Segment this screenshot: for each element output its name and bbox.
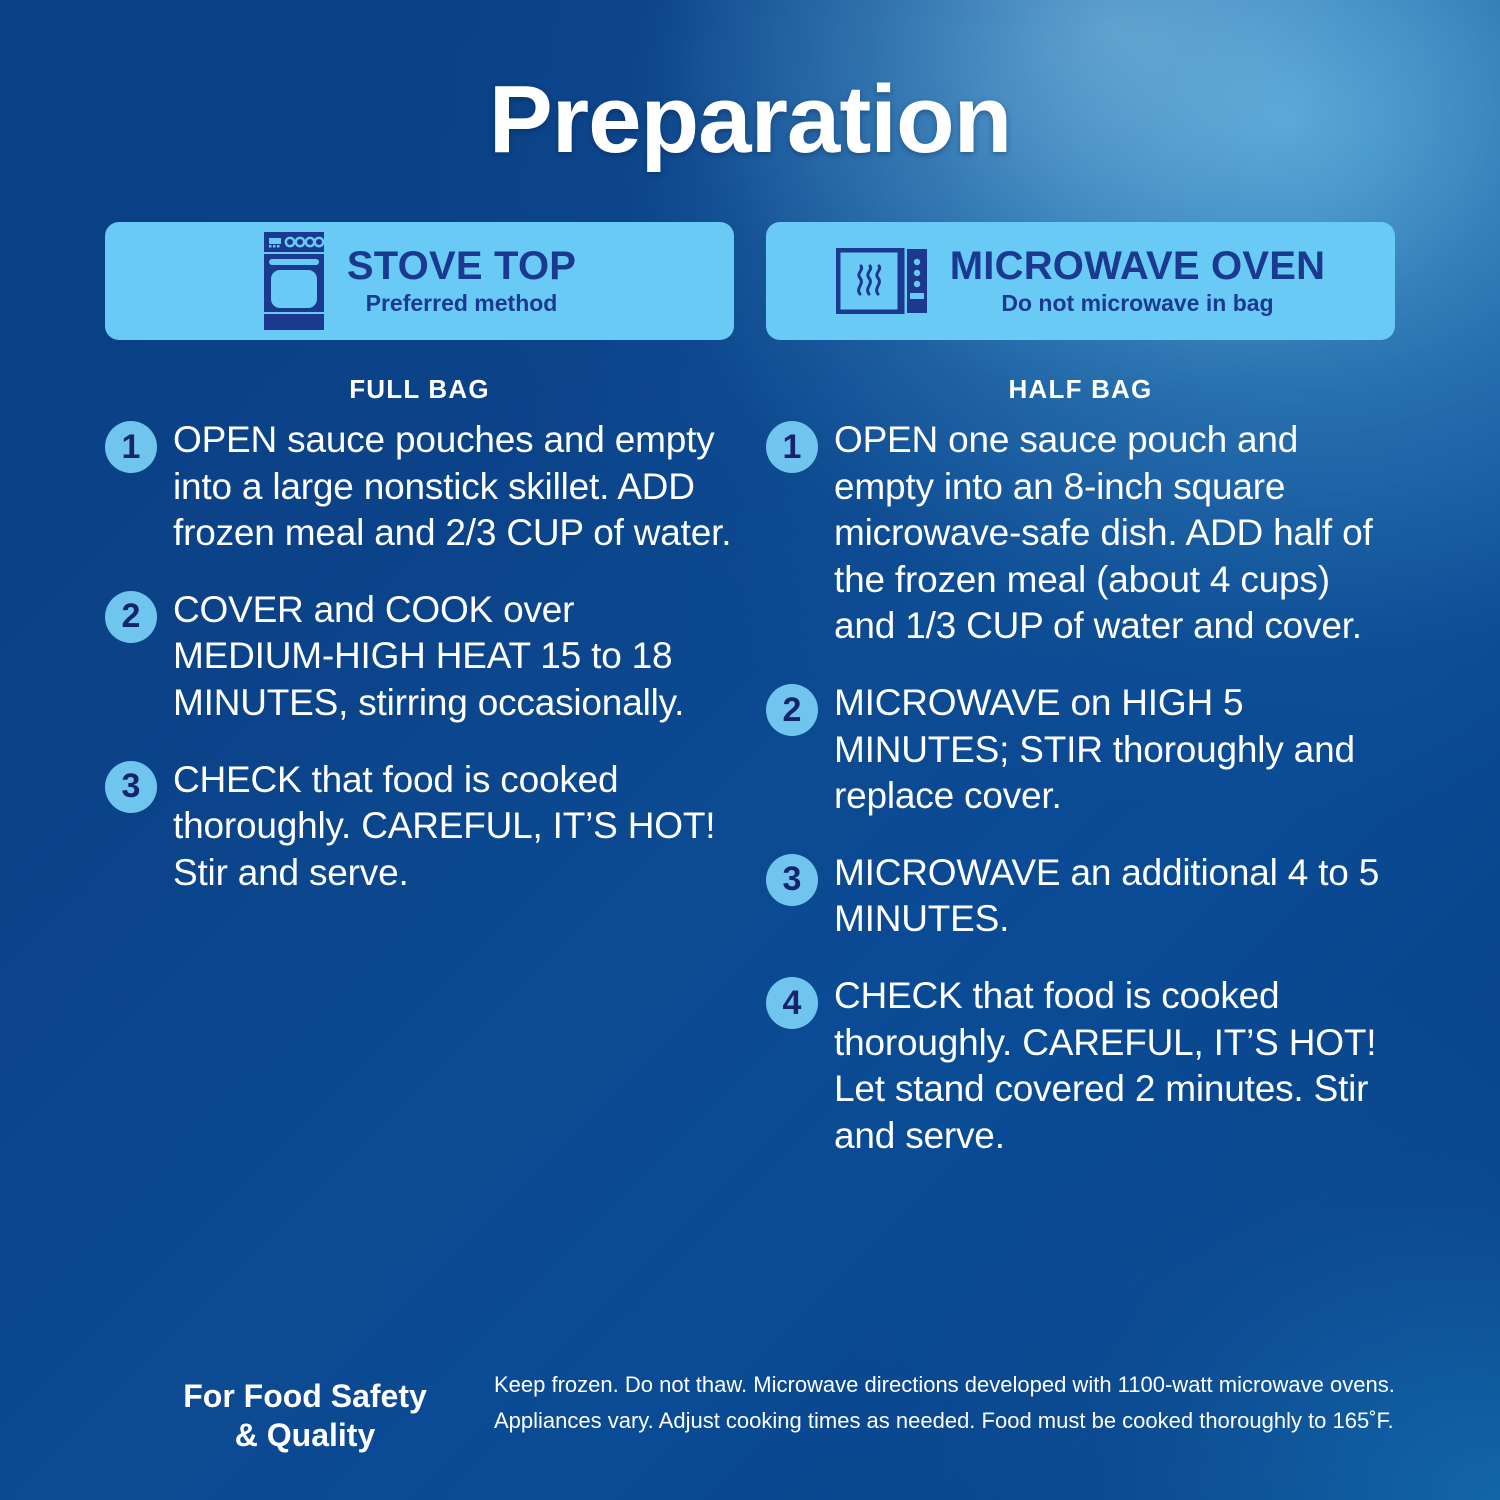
method-banner-microwave-oven: MICROWAVE OVEN Do not microwave in bag <box>766 222 1395 340</box>
microwave-icon <box>836 248 928 314</box>
method-subtitle: Do not microwave in bag <box>1001 292 1273 315</box>
food-safety-footer: For Food Safety & Quality Keep frozen. D… <box>0 1367 1500 1454</box>
bag-label-half: HALF BAG <box>766 374 1395 405</box>
step-text: MICROWAVE an additional 4 to 5 MINUTES. <box>834 850 1395 943</box>
step-number-badge: 2 <box>766 684 818 736</box>
step-text: OPEN sauce pouches and empty into a larg… <box>173 417 734 557</box>
step-item: 3 MICROWAVE an additional 4 to 5 MINUTES… <box>766 850 1395 943</box>
food-safety-body: Keep frozen. Do not thaw. Microwave dire… <box>470 1367 1395 1438</box>
method-column-microwave-oven: MICROWAVE OVEN Do not microwave in bag H… <box>766 222 1395 1190</box>
step-text: OPEN one sauce pouch and empty into an 8… <box>834 417 1395 650</box>
step-text: CHECK that food is cooked thoroughly. CA… <box>834 973 1395 1159</box>
step-item: 4 CHECK that food is cooked thoroughly. … <box>766 973 1395 1159</box>
step-number-badge: 1 <box>105 421 157 473</box>
method-subtitle: Preferred method <box>366 292 558 315</box>
food-safety-heading-line2: & Quality <box>140 1416 470 1454</box>
step-number-badge: 4 <box>766 977 818 1029</box>
step-text: CHECK that food is cooked thoroughly. CA… <box>173 757 734 897</box>
step-number-badge: 1 <box>766 421 818 473</box>
step-number-badge: 2 <box>105 591 157 643</box>
step-text: COVER and COOK over MEDIUM-HIGH HEAT 15 … <box>173 587 734 727</box>
steps-list-microwave-oven: 1 OPEN one sauce pouch and empty into an… <box>766 417 1395 1160</box>
food-safety-heading-line1: For Food Safety <box>140 1377 470 1415</box>
bag-label-full: FULL BAG <box>105 374 734 405</box>
step-item: 3 CHECK that food is cooked thoroughly. … <box>105 757 734 897</box>
page-title: Preparation <box>0 0 1500 168</box>
step-number-badge: 3 <box>766 854 818 906</box>
method-column-stove-top: STOVE TOP Preferred method FULL BAG 1 OP… <box>105 222 734 1190</box>
food-safety-heading: For Food Safety & Quality <box>140 1367 470 1454</box>
step-item: 1 OPEN one sauce pouch and empty into an… <box>766 417 1395 650</box>
method-title: STOVE TOP <box>347 246 576 287</box>
method-banner-text-microwave-oven: MICROWAVE OVEN Do not microwave in bag <box>950 246 1325 315</box>
method-banner-stove-top: STOVE TOP Preferred method <box>105 222 734 340</box>
step-item: 2 COVER and COOK over MEDIUM-HIGH HEAT 1… <box>105 587 734 727</box>
step-item: 2 MICROWAVE on HIGH 5 MINUTES; STIR thor… <box>766 680 1395 820</box>
step-text: MICROWAVE on HIGH 5 MINUTES; STIR thorou… <box>834 680 1395 820</box>
methods-columns: STOVE TOP Preferred method FULL BAG 1 OP… <box>0 222 1500 1190</box>
step-number-badge: 3 <box>105 761 157 813</box>
preparation-instructions-panel: Preparation <box>0 0 1500 1500</box>
method-title: MICROWAVE OVEN <box>950 246 1325 287</box>
stove-icon <box>263 232 325 330</box>
steps-list-stove-top: 1 OPEN sauce pouches and empty into a la… <box>105 417 734 896</box>
method-banner-text-stove-top: STOVE TOP Preferred method <box>347 246 576 315</box>
step-item: 1 OPEN sauce pouches and empty into a la… <box>105 417 734 557</box>
